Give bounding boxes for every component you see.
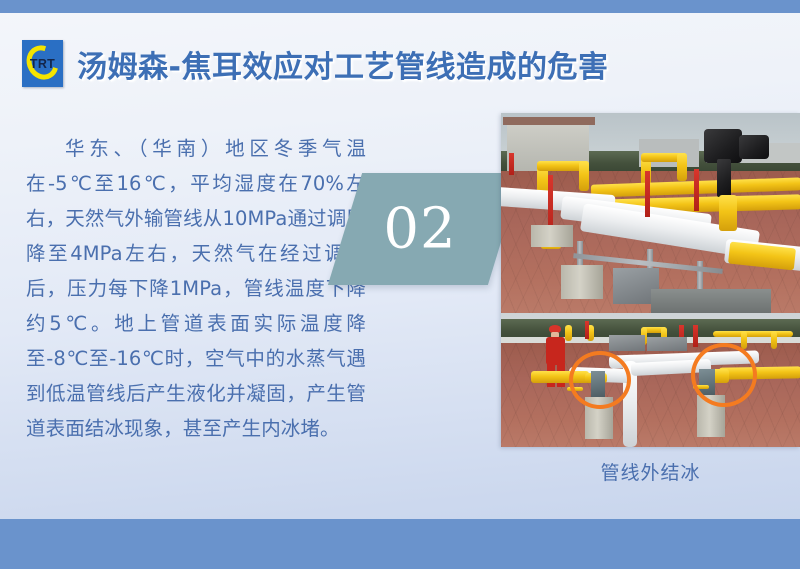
- header: TRT 汤姆森-焦耳效应对工艺管线造成的危害: [22, 40, 608, 87]
- icing-bg-riser-1: [565, 325, 572, 341]
- trt-circle-logo-icon: TRT: [22, 40, 63, 87]
- section-number-badge: 02: [328, 173, 522, 285]
- photo-actuator-body: [739, 135, 769, 159]
- photo-caption: 管线外结冰: [501, 458, 800, 485]
- icing-bg-red-post-2: [693, 325, 698, 347]
- logo-text: TRT: [22, 57, 63, 71]
- photo-yellow-riser-4: [677, 153, 687, 181]
- icing-annotation-circle-2: [691, 343, 757, 407]
- photo-pipeline-icing: [501, 313, 800, 447]
- icing-bg-red-post-3: [585, 321, 589, 339]
- icing-bg-skid: [609, 335, 645, 351]
- photo-pipeline-station: [501, 113, 800, 313]
- photo-red-post-4: [509, 153, 514, 175]
- top-band: [0, 0, 800, 13]
- icing-bg-riser-5: [741, 331, 747, 349]
- photo-red-post-2: [645, 171, 650, 217]
- photo-actuator-head: [704, 129, 742, 163]
- photo-concrete-pad: [651, 289, 771, 313]
- photo-yellow-riser-2: [579, 161, 589, 191]
- icing-bg-skid-2: [647, 337, 687, 351]
- page-title: 汤姆森-焦耳效应对工艺管线造成的危害: [77, 42, 608, 86]
- icing-bg-riser-6: [771, 331, 777, 349]
- section-number-text: 02: [345, 197, 505, 262]
- photo-concrete-base-2: [531, 225, 573, 247]
- bottom-band: [0, 519, 800, 569]
- photo-stack: [501, 113, 800, 447]
- icing-bg-header-2: [713, 331, 793, 337]
- photo-concrete-base-1: [561, 265, 603, 299]
- photo-red-post-3: [694, 169, 699, 211]
- photo-roof-left: [503, 117, 595, 125]
- icing-worker-torso: [546, 337, 565, 365]
- icing-annotation-circle-1: [569, 351, 631, 409]
- photo-actuator-stem: [717, 159, 731, 197]
- photo-valve-body-yellow: [719, 195, 737, 231]
- body-paragraph: 华东、（华南）地区冬季气温在-5℃至16℃，平均湿度在70%左右，天然气外输管线…: [26, 131, 366, 446]
- slide-root: TRT 汤姆森-焦耳效应对工艺管线造成的危害 华东、（华南）地区冬季气温在-5℃…: [0, 0, 800, 569]
